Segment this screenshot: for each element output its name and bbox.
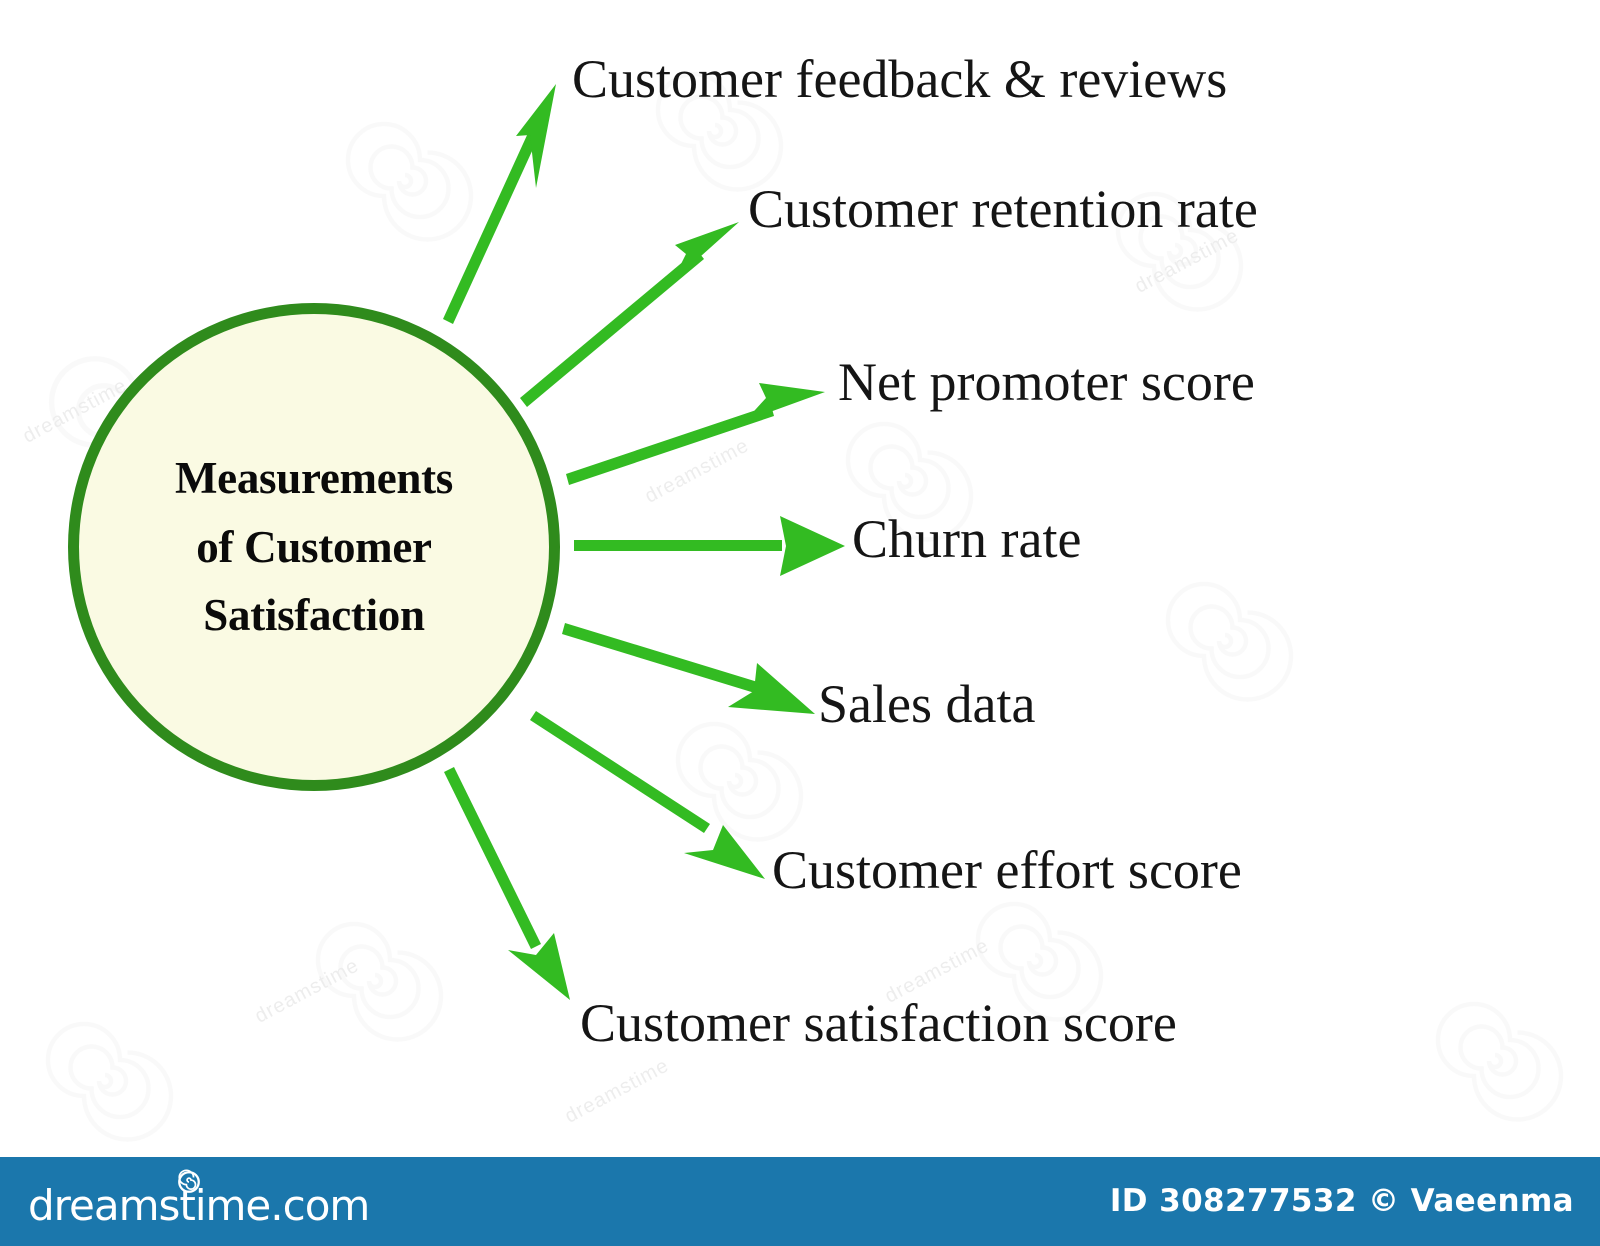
central-node-label-line-2: of Customer — [114, 513, 514, 581]
dreamstime-spiral-icon — [176, 1169, 202, 1195]
arrow-to-sales-data — [562, 623, 815, 714]
branch-label-sales-data[interactable]: Sales data — [818, 677, 1035, 731]
arrow-to-net-promoter-score — [566, 383, 825, 485]
dreamstime-logo[interactable]: dreamstime.com — [28, 1175, 369, 1227]
central-node-label-line-1: Measurements — [114, 444, 514, 512]
central-node-label: Measurements of Customer Satisfaction — [114, 444, 514, 649]
branch-label-customer-feedback-reviews[interactable]: Customer feedback & reviews — [572, 52, 1227, 106]
footer-bar: dreamstime.com ID 308277532 © Vaeenma — [0, 1157, 1600, 1246]
arrow-to-churn-rate — [574, 516, 845, 576]
branch-label-net-promoter-score[interactable]: Net promoter score — [838, 355, 1255, 409]
branch-label-churn-rate[interactable]: Churn rate — [852, 512, 1081, 566]
diagram-page: dreamstime dreamstime dreamstime dreamst… — [0, 0, 1600, 1246]
arrow-to-customer-effort-score — [530, 711, 765, 879]
image-id-credit: ID 308277532 © Vaeenma — [1110, 1183, 1574, 1219]
arrow-to-customer-satisfaction-score — [444, 767, 570, 1000]
branch-label-customer-effort-score[interactable]: Customer effort score — [772, 843, 1242, 897]
central-node[interactable]: Measurements of Customer Satisfaction — [68, 303, 560, 791]
arrow-to-customer-feedback-reviews — [443, 84, 556, 324]
central-node-label-line-3: Satisfaction — [114, 581, 514, 649]
branch-label-customer-retention-rate[interactable]: Customer retention rate — [748, 182, 1258, 236]
branch-label-customer-satisfaction-score[interactable]: Customer satisfaction score — [580, 996, 1177, 1050]
